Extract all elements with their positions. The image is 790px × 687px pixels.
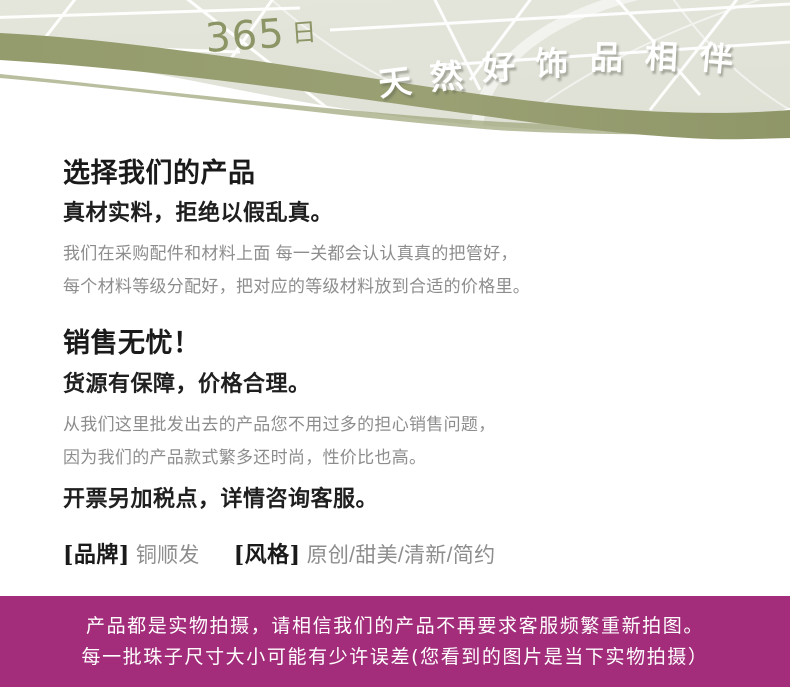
section-1-body-line-2: 每个材料等级分配好，把对应的等级材料放到合适的价格里。 xyxy=(63,278,530,295)
attribute-row: [品牌]铜顺发[风格]原创/甜美/清新/简约 xyxy=(63,544,495,566)
footer-line-1: 产品都是实物拍摄，请相信我们的产品不再要求客服频繁重新拍图。 xyxy=(86,611,704,641)
footer-notice-bar: 产品都是实物拍摄，请相信我们的产品不再要求客服频繁重新拍图。 每一批珠子尺寸大小… xyxy=(0,596,790,687)
brand-label: [品牌] xyxy=(63,542,130,568)
section-2-body-line-2: 因为我们的产品款式繁多还时尚，性价比也高。 xyxy=(63,449,426,466)
body-text: 我们在采购配件和材料上面 每一关都会认认真真的把管好， xyxy=(63,245,518,262)
body-text: 从我们这里批发出去的产品您不用过多的担心销售问题， xyxy=(63,416,496,433)
tagline-char-5: 品 xyxy=(590,31,624,80)
section-2-body-line-1: 从我们这里批发出去的产品您不用过多的担心销售问题， xyxy=(63,416,496,433)
tagline-char-4: 饰 xyxy=(535,37,569,86)
tax-notice: 开票另加税点，详情咨询客服。 xyxy=(63,488,378,510)
logo-number: 365 xyxy=(204,11,286,62)
section-2-title: 销售无忧！ xyxy=(63,330,201,357)
logo-suffix: 日 xyxy=(291,17,318,48)
section-subtitle-text: 货源有保障，价格合理。 xyxy=(63,373,311,395)
section-title-text: 销售无忧！ xyxy=(63,330,201,357)
brand-value: 铜顺发 xyxy=(136,544,200,567)
footer-line-2: 每一批珠子尺寸大小可能有少许误差(您看到的图片是当下实物拍摄） xyxy=(81,642,708,672)
tagline-char-1: 天 xyxy=(375,54,414,106)
banner-tagline: 天 然 好 饰 品 相 伴 xyxy=(378,30,778,110)
section-1-subtitle: 真材实料，拒绝以假乱真。 xyxy=(63,202,333,224)
tagline-char-7: 伴 xyxy=(698,31,735,82)
promo-banner-page: 365日 天 然 好 饰 品 相 伴 选择我们的产品 真材实料，拒绝以假乱真。 … xyxy=(0,0,790,687)
section-subtitle-text: 真材实料，拒绝以假乱真。 xyxy=(63,202,333,224)
header-banner: 365日 天 然 好 饰 品 相 伴 xyxy=(0,0,790,140)
logo-365: 365日 xyxy=(204,8,318,62)
tax-notice-text: 开票另加税点，详情咨询客服。 xyxy=(63,488,378,510)
style-value: 原创/甜美/清新/简约 xyxy=(307,544,496,567)
tagline-char-3: 好 xyxy=(481,40,516,90)
tagline-char-2: 然 xyxy=(428,49,465,100)
section-1-body-line-1: 我们在采购配件和材料上面 每一关都会认认真真的把管好， xyxy=(63,245,518,262)
style-label: [风格] xyxy=(234,542,301,568)
section-title-text: 选择我们的产品 xyxy=(63,160,256,187)
section-1-title: 选择我们的产品 xyxy=(63,160,256,187)
body-text: 每个材料等级分配好，把对应的等级材料放到合适的价格里。 xyxy=(63,278,530,295)
body-text: 因为我们的产品款式繁多还时尚，性价比也高。 xyxy=(63,449,426,466)
tagline-char-6: 相 xyxy=(644,29,679,79)
main-content: 选择我们的产品 真材实料，拒绝以假乱真。 我们在采购配件和材料上面 每一关都会认… xyxy=(0,140,790,596)
section-2-subtitle: 货源有保障，价格合理。 xyxy=(63,373,311,395)
banner-text-layer: 365日 天 然 好 饰 品 相 伴 xyxy=(0,0,790,140)
